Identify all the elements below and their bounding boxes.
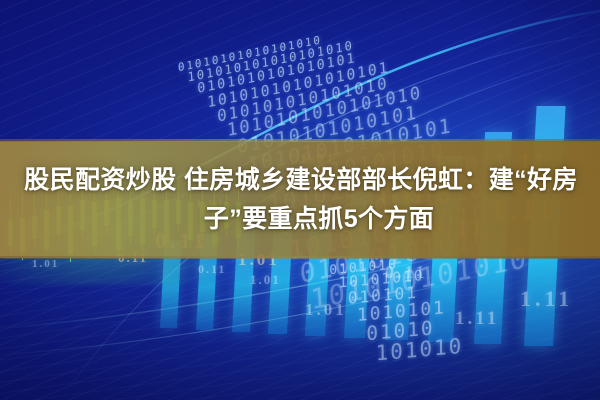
floating-number: 1.11 [520, 286, 573, 312]
headline-text: 股民配资炒股 住房城乡建设部部长倪虹：建“好房 子”要重点抓5个方面 [0, 141, 600, 258]
floating-number: 1.01 [305, 300, 347, 320]
headline-line-2: 子”要重点抓5个方面 [166, 201, 434, 238]
floating-number: 1.11 [455, 308, 499, 330]
floating-number: 0.11 [385, 262, 428, 283]
banner-image: 0101010101010101010101010101010101001010… [0, 0, 600, 400]
floating-number: 1.01 [250, 272, 281, 288]
floating-number: 0.11 [198, 262, 226, 277]
headline-line-1: 股民配资炒股 住房城乡建设部部长倪虹：建“好房 [22, 162, 578, 199]
floating-number: 1.01 [32, 258, 59, 270]
